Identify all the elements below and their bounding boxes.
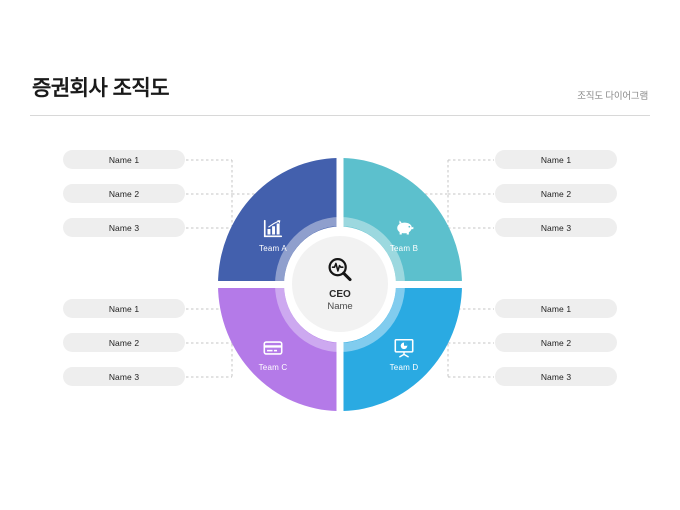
slide-header: 증권회사 조직도 조직도 다이어그램 (0, 0, 680, 120)
list-item[interactable]: Name 3 (495, 218, 617, 237)
page-subtitle: 조직도 다이어그램 (577, 92, 648, 102)
piggy-bank-icon (393, 218, 415, 240)
ceo-title: CEO (329, 289, 351, 301)
bar-chart-icon (262, 218, 284, 240)
list-item[interactable]: Name 2 (63, 333, 185, 352)
list-item[interactable]: Name 3 (495, 367, 617, 386)
list-item[interactable]: Name 2 (495, 333, 617, 352)
page-title: 증권회사 조직도 (32, 78, 169, 99)
team-label-c: Team C (243, 364, 303, 372)
presentation-chart-icon (393, 337, 415, 359)
donut-wheel: Team A Team B Team C Team D CEO Name (218, 158, 462, 411)
list-item[interactable]: Name 3 (63, 367, 185, 386)
credit-card-icon (262, 337, 284, 359)
ceo-hub[interactable]: CEO Name (292, 236, 388, 332)
member-group-team-b: Name 1 Name 2 Name 3 (495, 150, 617, 237)
member-group-team-c: Name 1 Name 2 Name 3 (63, 299, 185, 386)
list-item[interactable]: Name 2 (63, 184, 185, 203)
magnifier-pulse-icon (326, 256, 354, 284)
list-item[interactable]: Name 2 (495, 184, 617, 203)
list-item[interactable]: Name 3 (63, 218, 185, 237)
team-label-d: Team D (374, 364, 434, 372)
list-item[interactable]: Name 1 (63, 299, 185, 318)
header-divider (30, 115, 650, 116)
list-item[interactable]: Name 1 (495, 299, 617, 318)
list-item[interactable]: Name 1 (495, 150, 617, 169)
ceo-name: Name (327, 301, 352, 312)
member-group-team-a: Name 1 Name 2 Name 3 (63, 150, 185, 237)
list-item[interactable]: Name 1 (63, 150, 185, 169)
team-label-a: Team A (243, 245, 303, 253)
team-label-b: Team B (374, 245, 434, 253)
member-group-team-d: Name 1 Name 2 Name 3 (495, 299, 617, 386)
org-chart-diagram: Name 1 Name 2 Name 3 Name 1 Name 2 Name … (0, 120, 680, 450)
